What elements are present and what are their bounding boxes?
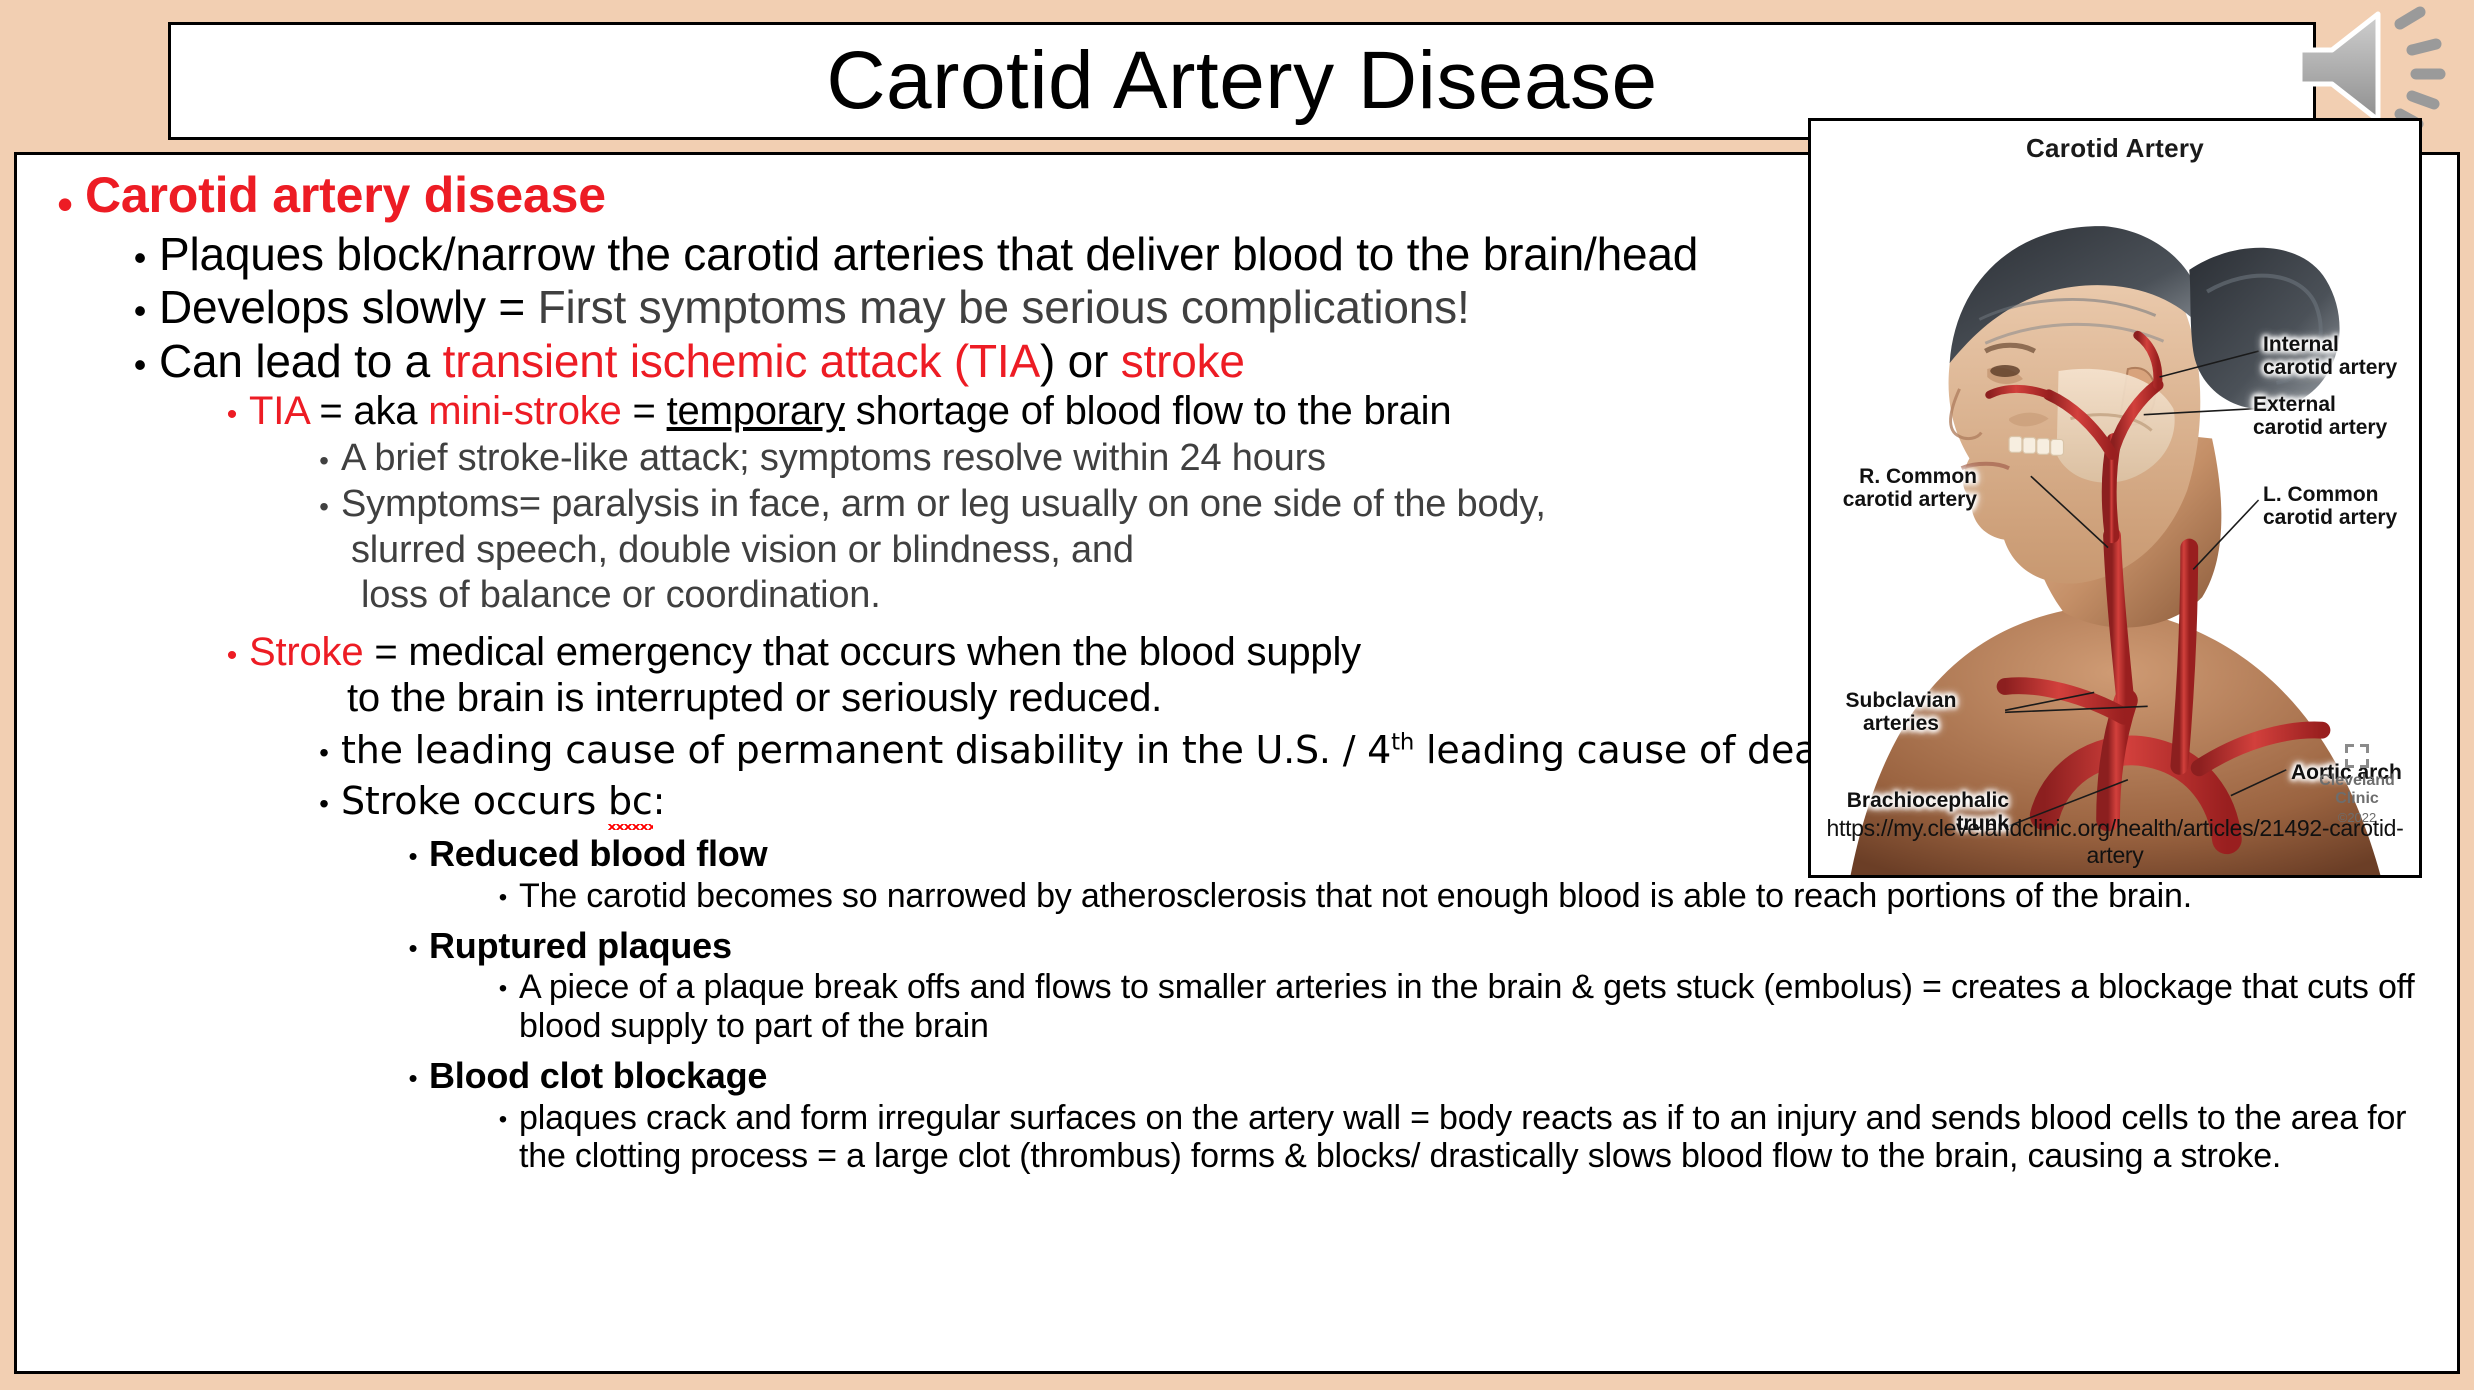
text-develops-slowly: Develops slowly = xyxy=(159,281,538,333)
label-rcommon-line1: R. Common xyxy=(1859,465,1977,488)
bullet-marker: • xyxy=(397,833,429,869)
label-rcommon-line2: carotid artery xyxy=(1843,488,1977,511)
label-lcommon-line1: L. Common xyxy=(2263,483,2379,506)
bullet-marker: • xyxy=(307,728,341,767)
text-equals: = xyxy=(622,389,667,433)
label-subclavian-line2: arteries xyxy=(1863,712,1939,735)
page-title: Carotid Artery Disease xyxy=(826,40,1657,122)
bullet-marker: • xyxy=(487,877,519,910)
text-stroke-def: = medical emergency that occurs when the… xyxy=(363,630,1361,674)
text-stroke-occurs: Stroke occurs xyxy=(341,779,608,823)
credit-brand-line2: Clinic xyxy=(2335,790,2379,807)
heading-ruptured-plaques: Ruptured plaques xyxy=(429,925,2457,967)
label-lcommon-line2: carotid artery xyxy=(2263,506,2397,529)
label-external-line1: External xyxy=(2253,393,2336,416)
bullet-marker: • xyxy=(307,482,341,521)
text-shortage: shortage of blood flow to the brain xyxy=(845,389,1452,433)
text-tia: TIA xyxy=(249,389,308,433)
bullet-marker: • xyxy=(307,779,341,818)
text-leading-cause-b: leading cause of death xyxy=(1414,728,1856,772)
misspelled-word-bc: bc xyxy=(608,779,653,825)
label-internal-line2: carotid artery xyxy=(2263,356,2397,379)
label-internal-line1: Internal xyxy=(2263,333,2339,356)
bullet-marker: • xyxy=(215,388,249,430)
list-item: • Ruptured plaques xyxy=(397,925,2457,967)
text-ordinal-suffix: th xyxy=(1391,729,1414,755)
cleveland-clinic-logo-icon xyxy=(2344,743,2370,769)
list-item: • The carotid becomes so narrowed by ath… xyxy=(487,877,2457,915)
presentation-slide: Carotid Artery Disease xyxy=(0,0,2474,1390)
label-left-common-carotid-artery: L. Common carotid artery xyxy=(2263,483,2397,529)
text-tia-phrase: transient ischemic attack (TIA xyxy=(443,335,1040,387)
heading-blood-clot-blockage: Blood clot blockage xyxy=(429,1055,2457,1097)
bullet-marker: • xyxy=(397,925,429,961)
label-right-common-carotid-artery: R. Common carotid artery xyxy=(1827,465,1977,511)
text-mini-stroke: mini-stroke xyxy=(428,389,621,433)
list-item: • A piece of a plaque break offs and flo… xyxy=(487,968,2457,1045)
label-subclavian-line1: Subclavian xyxy=(1846,689,1957,712)
bullet-marker: • xyxy=(121,281,159,329)
text-colon: : xyxy=(653,779,666,823)
bullet-marker: • xyxy=(487,968,519,1001)
text-leading-cause-a: the leading cause of permanent disabilit… xyxy=(341,728,1391,772)
bullet-marker: • xyxy=(307,436,341,475)
text-aka: = aka xyxy=(308,389,428,433)
text-temporary: temporary xyxy=(667,389,845,433)
list-item: • Blood clot blockage xyxy=(397,1055,2457,1097)
text-stroke-word: stroke xyxy=(1121,335,1245,387)
label-brachio-line1: Brachiocephalic xyxy=(1847,789,2009,812)
credit-brand-line1: Cleveland xyxy=(2319,772,2395,789)
text-can-lead-to: Can lead to a xyxy=(159,335,443,387)
bullet-marker: • xyxy=(487,1099,519,1132)
carotid-artery-figure: Carotid Artery xyxy=(1808,118,2422,878)
text-stroke-label: Stroke xyxy=(249,630,363,674)
text-or: ) or xyxy=(1040,335,1121,387)
list-item: • plaques crack and form irregular surfa… xyxy=(487,1099,2457,1176)
label-external-line2: carotid artery xyxy=(2253,416,2387,439)
bullet-marker: • xyxy=(121,335,159,383)
text-blood-clot-blockage-detail: plaques crack and form irregular surface… xyxy=(519,1099,2457,1176)
bullet-marker: • xyxy=(215,629,249,671)
label-internal-carotid-artery: Internal carotid artery xyxy=(2263,333,2397,379)
label-subclavian-arteries: Subclavian arteries xyxy=(1827,689,1975,735)
text-reduced-blood-flow-detail: The carotid becomes so narrowed by ather… xyxy=(519,877,2457,915)
bullet-marker: • xyxy=(45,167,85,227)
speaker-audio-icon[interactable] xyxy=(2282,6,2462,128)
label-external-carotid-artery: External carotid artery xyxy=(2253,393,2387,439)
bullet-marker: • xyxy=(397,1055,429,1091)
text-ruptured-plaques-detail: A piece of a plaque break offs and flows… xyxy=(519,968,2457,1045)
text-first-symptoms: First symptoms may be serious complicati… xyxy=(538,281,1470,333)
bullet-marker: • xyxy=(121,228,159,276)
source-url[interactable]: https://my.clevelandclinic.org/health/ar… xyxy=(1811,815,2419,869)
